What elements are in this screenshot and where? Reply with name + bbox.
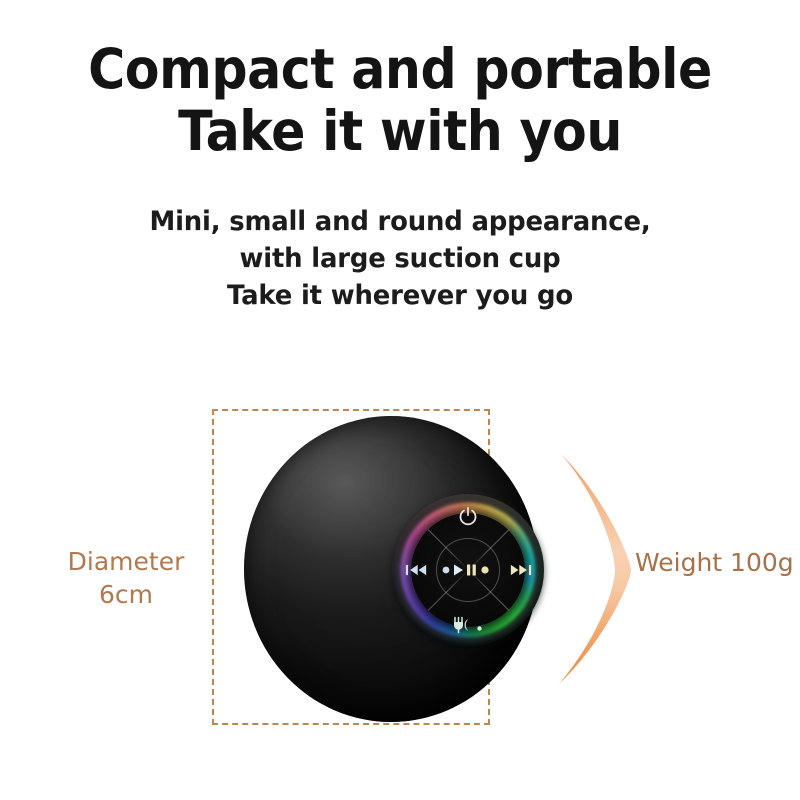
diameter-label: Diameter 6cm: [46, 545, 206, 611]
diameter-label-text: Diameter: [46, 545, 206, 578]
subtitle: Mini, small and round appearance, with l…: [16, 203, 784, 314]
headline-line-2: Take it with you: [32, 100, 768, 162]
power-icon[interactable]: [458, 506, 478, 526]
subtitle-line-1: Mini, small and round appearance,: [16, 203, 784, 240]
headline-line-1: Compact and portable: [32, 38, 768, 100]
weight-label: Weight 100g: [635, 548, 794, 578]
subtitle-line-3: Take it wherever you go: [16, 277, 784, 314]
product-feature-image: Compact and portable Take it with you Mi…: [0, 0, 800, 800]
previous-track-icon[interactable]: [405, 562, 427, 578]
bluetooth-speaker-product: [244, 416, 538, 722]
control-panel: [392, 494, 544, 646]
light-mode-icon[interactable]: [449, 616, 487, 634]
diameter-value-text: 6cm: [46, 578, 206, 611]
subtitle-line-2: with large suction cup: [16, 240, 784, 277]
next-track-icon[interactable]: [510, 562, 532, 578]
play-pause-icon[interactable]: [441, 562, 495, 578]
page-title: Compact and portable Take it with you: [32, 38, 768, 162]
